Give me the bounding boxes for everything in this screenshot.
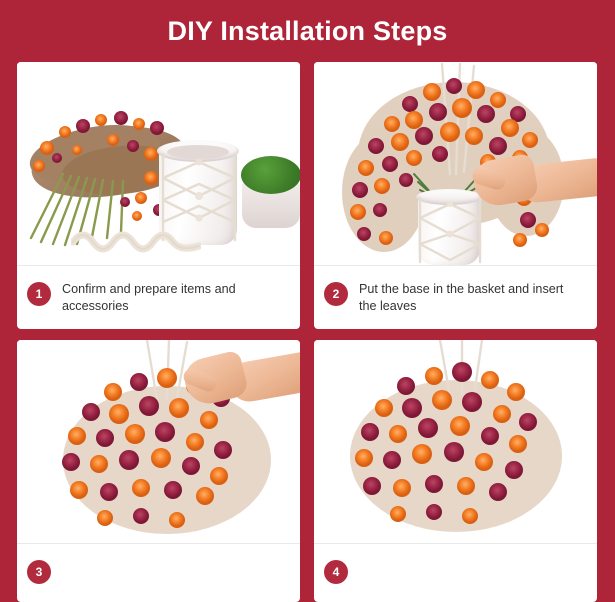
- page-title: DIY Installation Steps: [0, 0, 615, 47]
- macrame-rope-net: [414, 192, 486, 265]
- step-image-1: [17, 62, 300, 265]
- steps-grid: 1 Confirm and prepare items and accessor…: [17, 62, 598, 602]
- step-number-badge-4: 4: [324, 560, 348, 584]
- step-image-2: [314, 62, 597, 265]
- step-caption-2: 2 Put the base in the basket and insert …: [314, 266, 597, 329]
- step-text-2: Put the base in the basket and insert th…: [359, 281, 577, 315]
- step-text-1: Confirm and prepare items and accessorie…: [62, 281, 280, 315]
- step-image-3: [17, 340, 300, 543]
- step-image-4: [314, 340, 597, 543]
- step-card-2[interactable]: 2 Put the base in the basket and insert …: [314, 62, 597, 329]
- finished-arrangement-illustration: [314, 340, 597, 543]
- step-card-1[interactable]: 1 Confirm and prepare items and accessor…: [17, 62, 300, 329]
- step-card-4[interactable]: 4: [314, 340, 597, 602]
- step-card-3[interactable]: 3: [17, 340, 300, 602]
- loose-rope: [71, 222, 201, 256]
- step-number-badge-1: 1: [27, 282, 51, 306]
- step-number-badge-2: 2: [324, 282, 348, 306]
- diy-steps-infographic: DIY Installation Steps: [0, 0, 615, 410]
- moss-disc: [241, 156, 300, 194]
- step-caption-4: 4: [314, 544, 597, 602]
- step-number-badge-3: 3: [27, 560, 51, 584]
- step-caption-3: 3: [17, 544, 300, 602]
- step-caption-1: 1 Confirm and prepare items and accessor…: [17, 266, 300, 329]
